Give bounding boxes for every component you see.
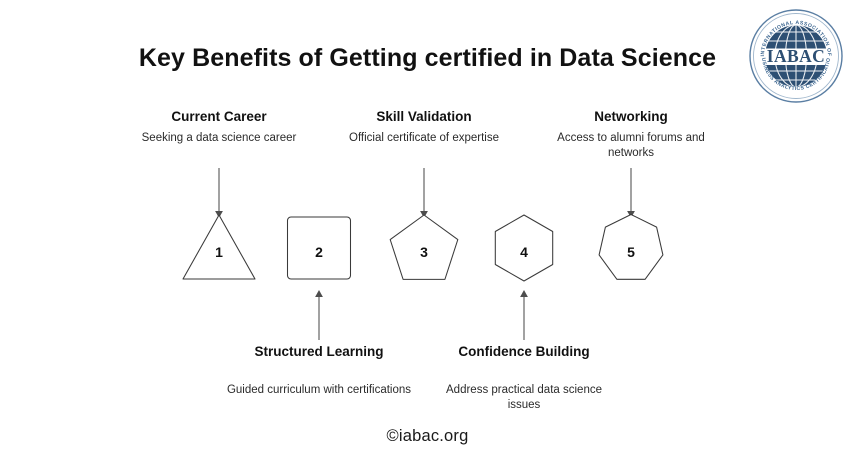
svg-text:IABAC: IABAC [767, 46, 825, 66]
step-description-5: Access to alumni forums and networks [536, 131, 726, 161]
shape-heptagon-5 [536, 212, 726, 288]
step-column-5: Networking Access to alumni forums and n… [536, 0, 726, 455]
step-heading-5: Networking [536, 108, 726, 125]
footer-credit: ©iabac.org [0, 427, 855, 446]
iabac-logo: IABAC INTERNATIONAL ASSOCIATION OF BUSIN… [748, 8, 844, 104]
infographic-canvas: Key Benefits of Getting certified in Dat… [0, 0, 855, 455]
